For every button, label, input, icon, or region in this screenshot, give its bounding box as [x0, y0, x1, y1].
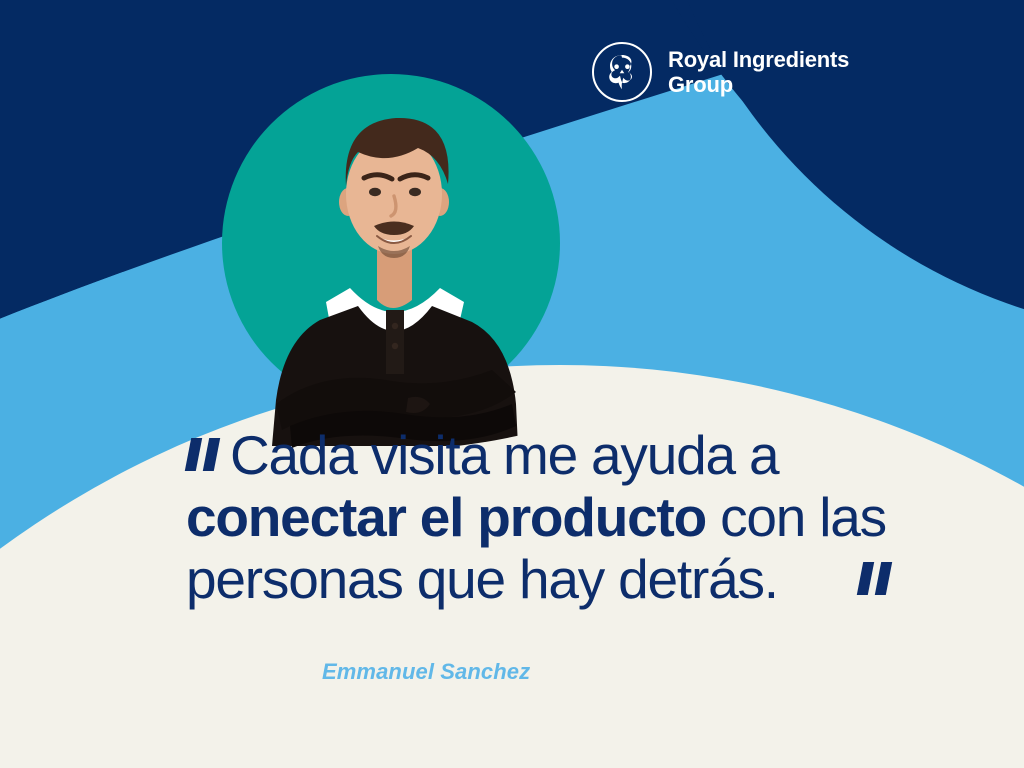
quote-line-3-text: personas que hay detrás.	[186, 548, 778, 610]
quote-line-2-text: con las	[706, 486, 886, 548]
brand-logo[interactable]: Royal IngredientsGroup	[592, 42, 849, 102]
quote-line-1-text: Cada visita me ayuda a	[230, 424, 778, 486]
quote-line-1: Cada visita me ayuda a	[186, 424, 946, 486]
brand-name-line2: Group	[668, 72, 733, 97]
quote-emphasis: conectar el producto	[186, 486, 706, 548]
quote-attribution: Emmanuel Sanchez	[322, 659, 530, 685]
lion-head-icon	[592, 42, 652, 102]
sweater-button	[392, 343, 398, 349]
close-quote-mark	[858, 562, 898, 596]
eye-right	[409, 188, 421, 196]
testimonial-poster: Royal IngredientsGroup Cada visita me ay…	[0, 0, 1024, 768]
open-quote-mark	[186, 438, 226, 472]
sweater-button	[392, 323, 398, 329]
eye-left	[369, 188, 381, 196]
brand-wordmark: Royal IngredientsGroup	[668, 47, 849, 97]
quote-block: Cada visita me ayuda a conectar el produ…	[186, 424, 946, 610]
quote-line-3: personas que hay detrás.	[186, 548, 946, 610]
quote-line-2: conectar el producto con las	[186, 486, 946, 548]
brand-name-line1: Royal Ingredients	[668, 47, 849, 72]
portrait-photo	[222, 74, 560, 412]
sweater-placket	[386, 310, 404, 374]
